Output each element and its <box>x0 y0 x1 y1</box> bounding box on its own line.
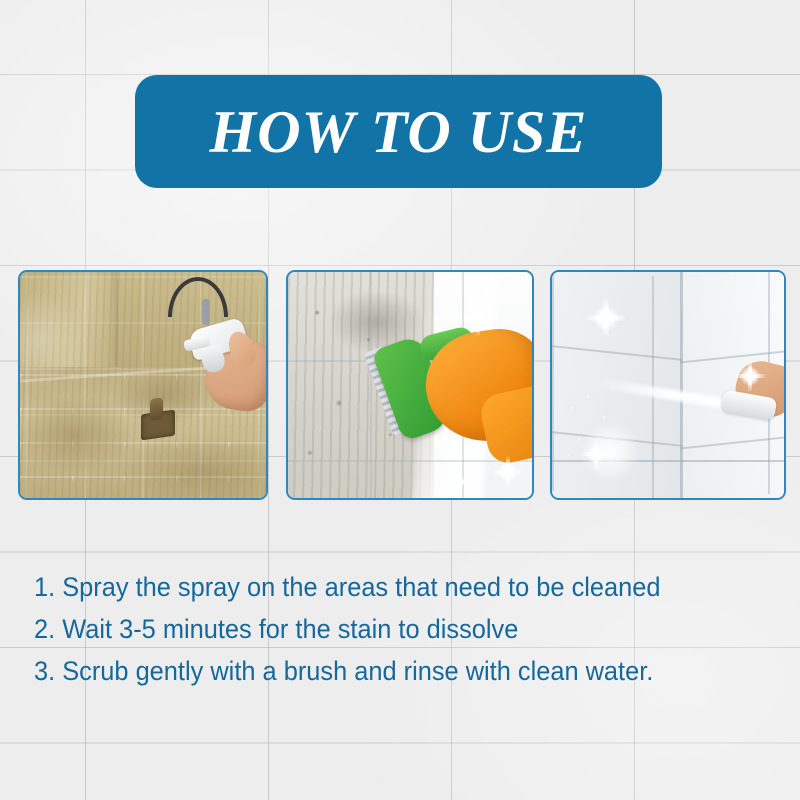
title-banner: HOW TO USE <box>135 75 662 188</box>
instruction-step-1: 1. Spray the spray on the areas that nee… <box>34 566 730 608</box>
instruction-step-2: 2. Wait 3-5 minutes for the stain to dis… <box>34 608 730 650</box>
photo-clean-tile-rinse <box>552 272 784 498</box>
page-title: HOW TO USE <box>210 102 588 162</box>
how-to-use-poster: HOW TO USE <box>0 0 800 800</box>
photo-panel-step-3 <box>550 270 786 500</box>
instruction-step-3: 3. Scrub gently with a brush and rinse w… <box>34 650 730 692</box>
photo-panel-step-1 <box>18 270 268 500</box>
instruction-list: 1. Spray the spray on the areas that nee… <box>34 566 774 692</box>
drain-icon <box>141 410 175 441</box>
photo-panel-step-2 <box>286 270 534 500</box>
corner-seam <box>680 272 683 498</box>
photo-panel-row <box>0 270 800 502</box>
photo-dirty-floor-spray <box>20 272 266 498</box>
photo-scrubbing-brush <box>288 272 532 498</box>
water-droplets <box>561 390 651 480</box>
